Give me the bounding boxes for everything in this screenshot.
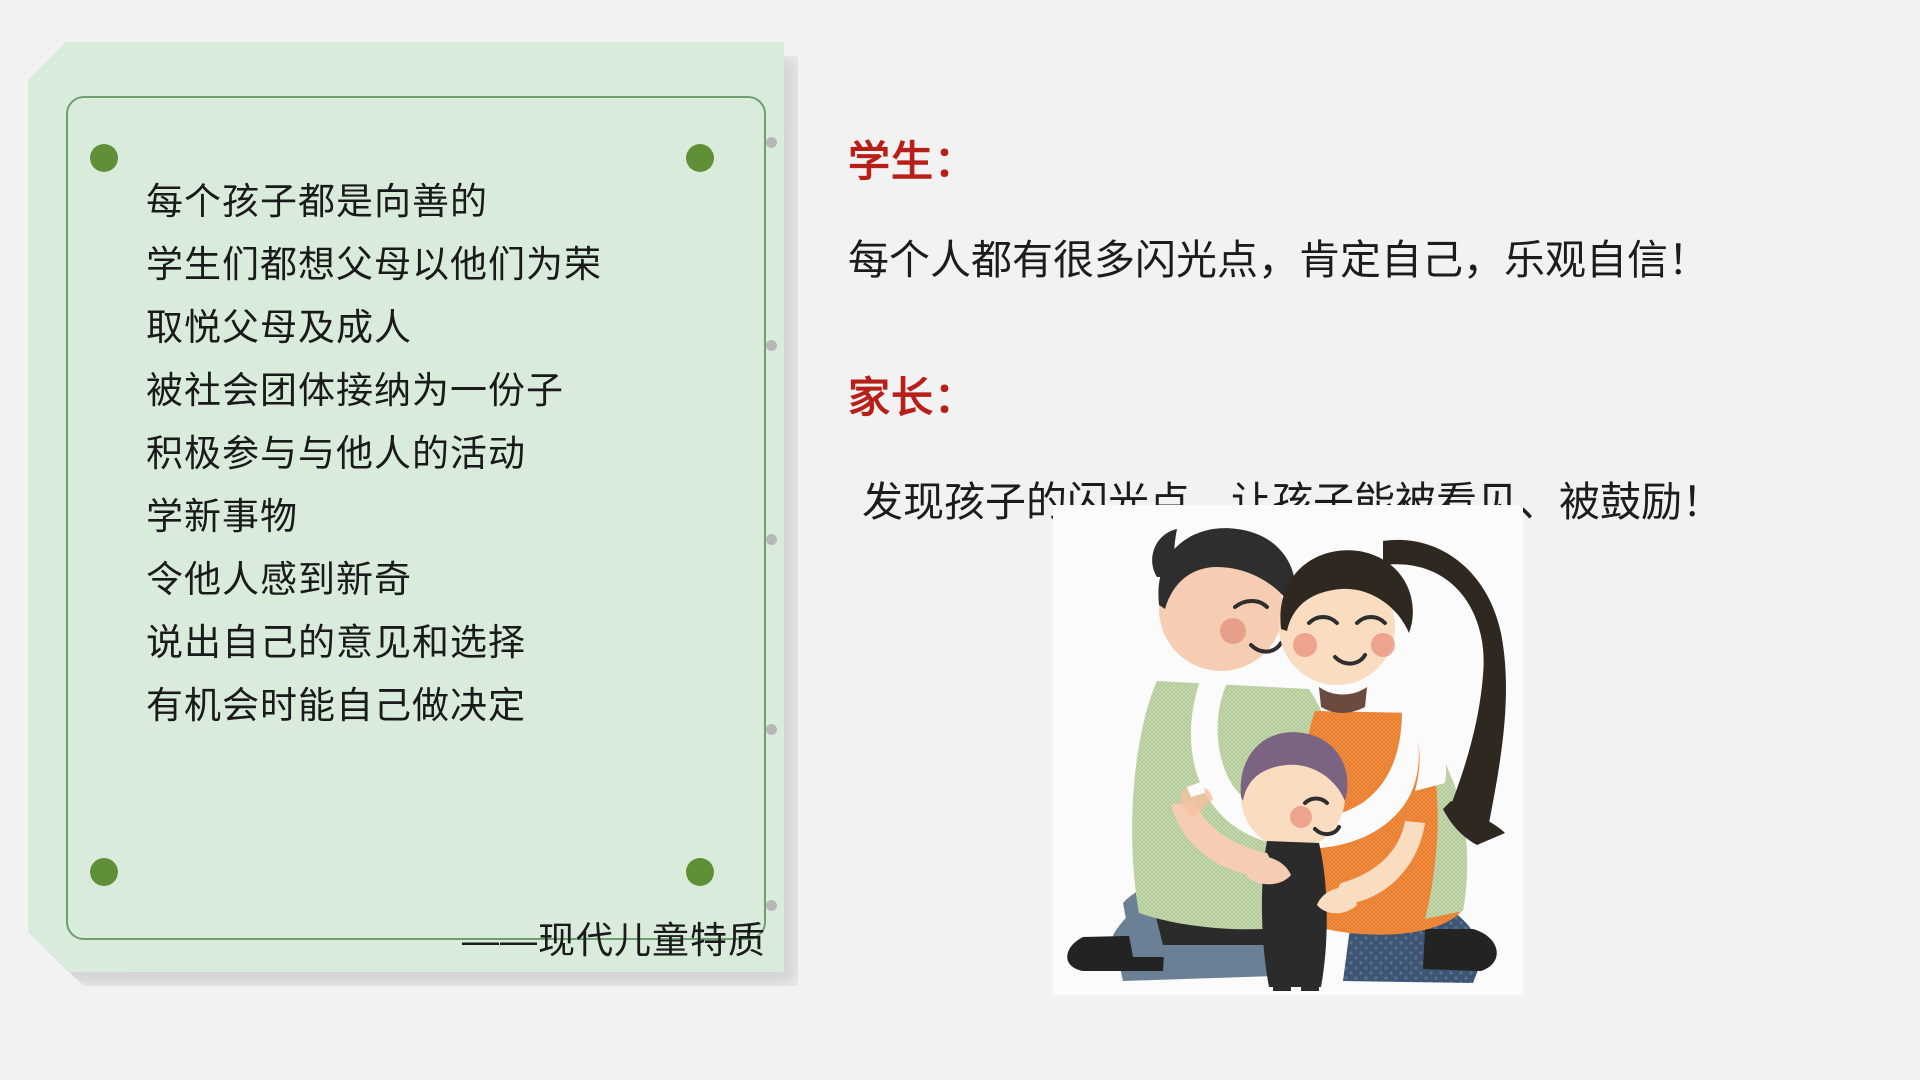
mother-shoe: [1423, 929, 1497, 971]
card-line: 被社会团体接纳为一份子: [146, 359, 706, 422]
right-content-column: 学生： 每个人都有很多闪光点，肯定自己，乐观自信！ 家长： 发现孩子的闪光点，让…: [848, 0, 1920, 1080]
card-edge-hole: [766, 340, 777, 351]
family-hug-svg: [1053, 505, 1523, 995]
card-line: 学生们都想父母以他们为荣: [146, 233, 706, 296]
child-leg-left: [1273, 945, 1291, 991]
student-section-heading: 学生：: [848, 128, 977, 189]
card-dot-bottom-right: [686, 858, 714, 886]
card-line: 取悦父母及成人: [146, 296, 706, 359]
family-hug-illustration: [1053, 505, 1523, 995]
card-line: 每个孩子都是向善的: [146, 170, 706, 233]
card-text-list: 每个孩子都是向善的 学生们都想父母以他们为荣 取悦父母及成人 被社会团体接纳为一…: [146, 170, 706, 737]
card-line: 令他人感到新奇: [146, 548, 706, 611]
child-leg-right: [1301, 945, 1319, 991]
parent-section-heading: 家长：: [848, 364, 977, 425]
card-line: 积极参与与他人的活动: [146, 422, 706, 485]
quote-card: 每个孩子都是向善的 学生们都想父母以他们为荣 取悦父母及成人 被社会团体接纳为一…: [28, 42, 788, 990]
card-line: 学新事物: [146, 485, 706, 548]
card-edge-hole: [766, 137, 777, 148]
mother-blush-left: [1293, 633, 1317, 657]
card-dot-bottom-left: [90, 858, 118, 886]
card-edge-hole: [766, 724, 777, 735]
card-line: 说出自己的意见和选择: [146, 611, 706, 674]
card-line: 有机会时能自己做决定: [146, 674, 706, 737]
card-dot-top-right: [686, 144, 714, 172]
child-blush: [1290, 806, 1312, 828]
card-dot-top-left: [90, 144, 118, 172]
student-section-text: 每个人都有很多闪光点，肯定自己，乐观自信！: [848, 226, 1709, 286]
father-blush: [1220, 618, 1246, 644]
mother-blush-right: [1371, 633, 1395, 657]
card-edge-hole: [766, 534, 777, 545]
card-attribution: ——现代儿童特质: [146, 910, 766, 964]
card-edge-hole: [766, 900, 777, 911]
